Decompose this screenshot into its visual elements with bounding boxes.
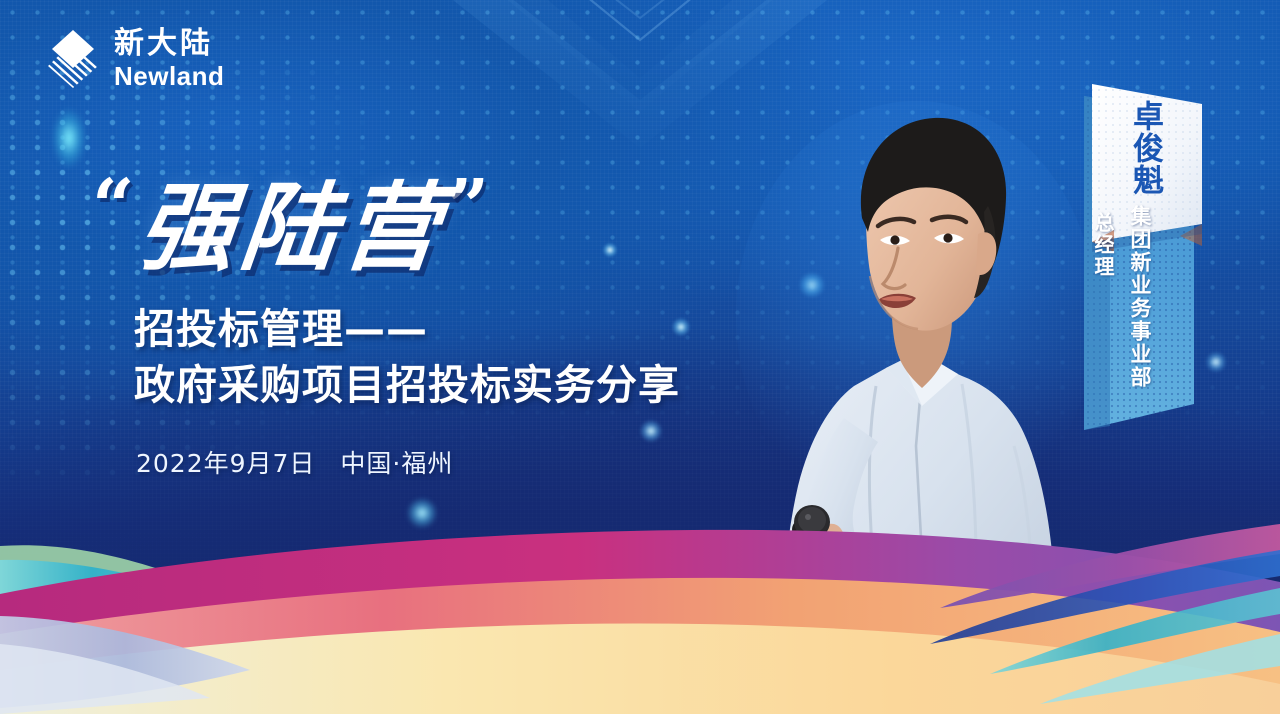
newland-diamond-logo-icon xyxy=(44,28,102,90)
brand-name-cn: 新大陆 xyxy=(114,29,224,59)
speaker-department: 集团新业务事业部 xyxy=(1129,205,1150,389)
subtitle: 招投标管理—— 政府采购项目招投标实务分享 xyxy=(134,301,792,414)
quote-close-mark: ” xyxy=(447,178,490,237)
subtitle-line-1: 招投标管理—— xyxy=(134,301,792,358)
speaker-name: 卓俊魁 xyxy=(1106,92,1162,204)
event-location: 中国·福州 xyxy=(340,449,453,478)
event-poster: 新大陆 Newland “ 强陆营 ” 招投标管理—— 政府采购项目招投标实务分… xyxy=(0,0,1280,714)
headline-block: “ 强陆营 ” 招投标管理—— 政府采购项目招投标实务分享 2022年9月7日 … xyxy=(92,178,792,480)
event-date-location: 2022年9月7日 中国·福州 xyxy=(136,444,792,480)
event-date: 2022年9月7日 xyxy=(136,449,315,478)
subtitle-line-2: 政府采购项目招投标实务分享 xyxy=(134,357,792,414)
program-title: 强陆营 xyxy=(133,178,450,279)
brand-logo: 新大陆 Newland xyxy=(44,28,224,90)
speaker-role: 总经理 xyxy=(1093,212,1113,278)
program-title-row: “ 强陆营 ” xyxy=(92,178,792,279)
decorative-color-waves xyxy=(0,484,1280,714)
quote-open-mark: “ xyxy=(92,178,135,237)
brand-name-en: Newland xyxy=(114,63,224,89)
